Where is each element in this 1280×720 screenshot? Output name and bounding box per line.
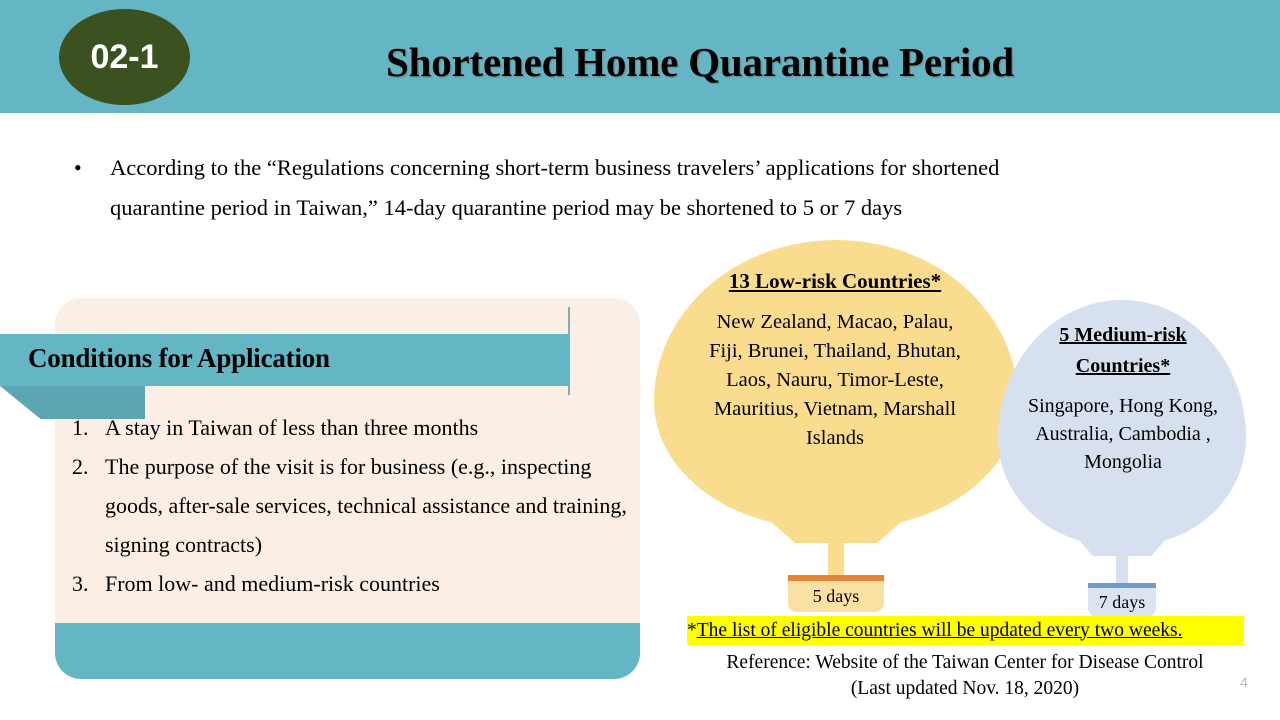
balloons-illustration: 5 days 13 Low-risk Countries* New Zealan… [640,240,1280,640]
basket-low-risk: 5 days [788,581,884,612]
slide-canvas: 02-1 Shortened Home Quarantine Period • … [0,0,1280,720]
balloon-low-risk-title: 13 Low-risk Countries* [700,266,970,296]
footnote-text: The list of eligible countries will be u… [697,620,1183,642]
list-item-number: 3. [72,564,105,603]
rope-gap [1090,556,1116,583]
reference-line-1: Reference: Website of the Taiwan Center … [660,650,1270,676]
conditions-card-footer [55,623,640,679]
balloon-medium-risk-text: 5 Medium-risk Countries* Singapore, Hong… [1012,320,1234,476]
rope-gap [790,543,828,575]
list-item: 1. A stay in Taiwan of less than three m… [72,408,632,447]
balloon-ropes-icon [1090,556,1154,583]
intro-line-1: According to the “Regulations concerning… [110,155,999,180]
list-item-text: From low- and medium-risk countries [105,564,632,603]
footnote-highlight: *The list of eligible countries will be … [687,616,1244,645]
conditions-list: 1. A stay in Taiwan of less than three m… [72,408,632,603]
section-badge-label: 02-1 [90,40,158,74]
basket-label: 5 days [813,586,860,607]
rope-gap [844,543,882,575]
reference-note: Reference: Website of the Taiwan Center … [660,650,1270,702]
balloon-medium-risk-countries: Singapore, Hong Kong, Australia, Cambodi… [1012,392,1234,476]
list-item-number: 2. [72,447,105,486]
page-number: 4 [1240,674,1248,690]
page-title: Shortened Home Quarantine Period [230,38,1170,86]
bullet-icon: • [74,148,110,188]
conditions-heading: Conditions for Application [28,343,330,374]
balloon-ropes-icon [790,543,882,575]
intro-text: According to the “Regulations concerning… [110,148,1214,228]
reference-line-2: (Last updated Nov. 18, 2020) [660,676,1270,702]
list-item: 3. From low- and medium-risk countries [72,564,632,603]
list-item-text: The purpose of the visit is for business… [105,447,632,564]
footnote-asterisk: * [687,620,697,642]
basket-medium-risk: 7 days [1088,588,1156,617]
list-item: 2. The purpose of the visit is for busin… [72,447,632,564]
balloon-low-risk-text: 13 Low-risk Countries* New Zealand, Maca… [700,266,970,453]
balloon-low-risk-countries: New Zealand, Macao, Palau, Fiji, Brunei,… [700,308,970,453]
basket-label: 7 days [1099,592,1146,613]
intro-paragraph: • According to the “Regulations concerni… [74,148,1214,228]
section-badge: 02-1 [59,9,190,105]
list-item-text: A stay in Taiwan of less than three mont… [105,408,632,447]
balloon-medium-risk-title-line1: 5 Medium-risk [1012,320,1234,351]
intro-line-2: quarantine period in Taiwan,” 14-day qua… [110,188,1214,228]
balloon-medium-risk-title-line2: Countries* [1012,351,1234,382]
rope-gap [1128,556,1154,583]
list-item-number: 1. [72,408,105,447]
